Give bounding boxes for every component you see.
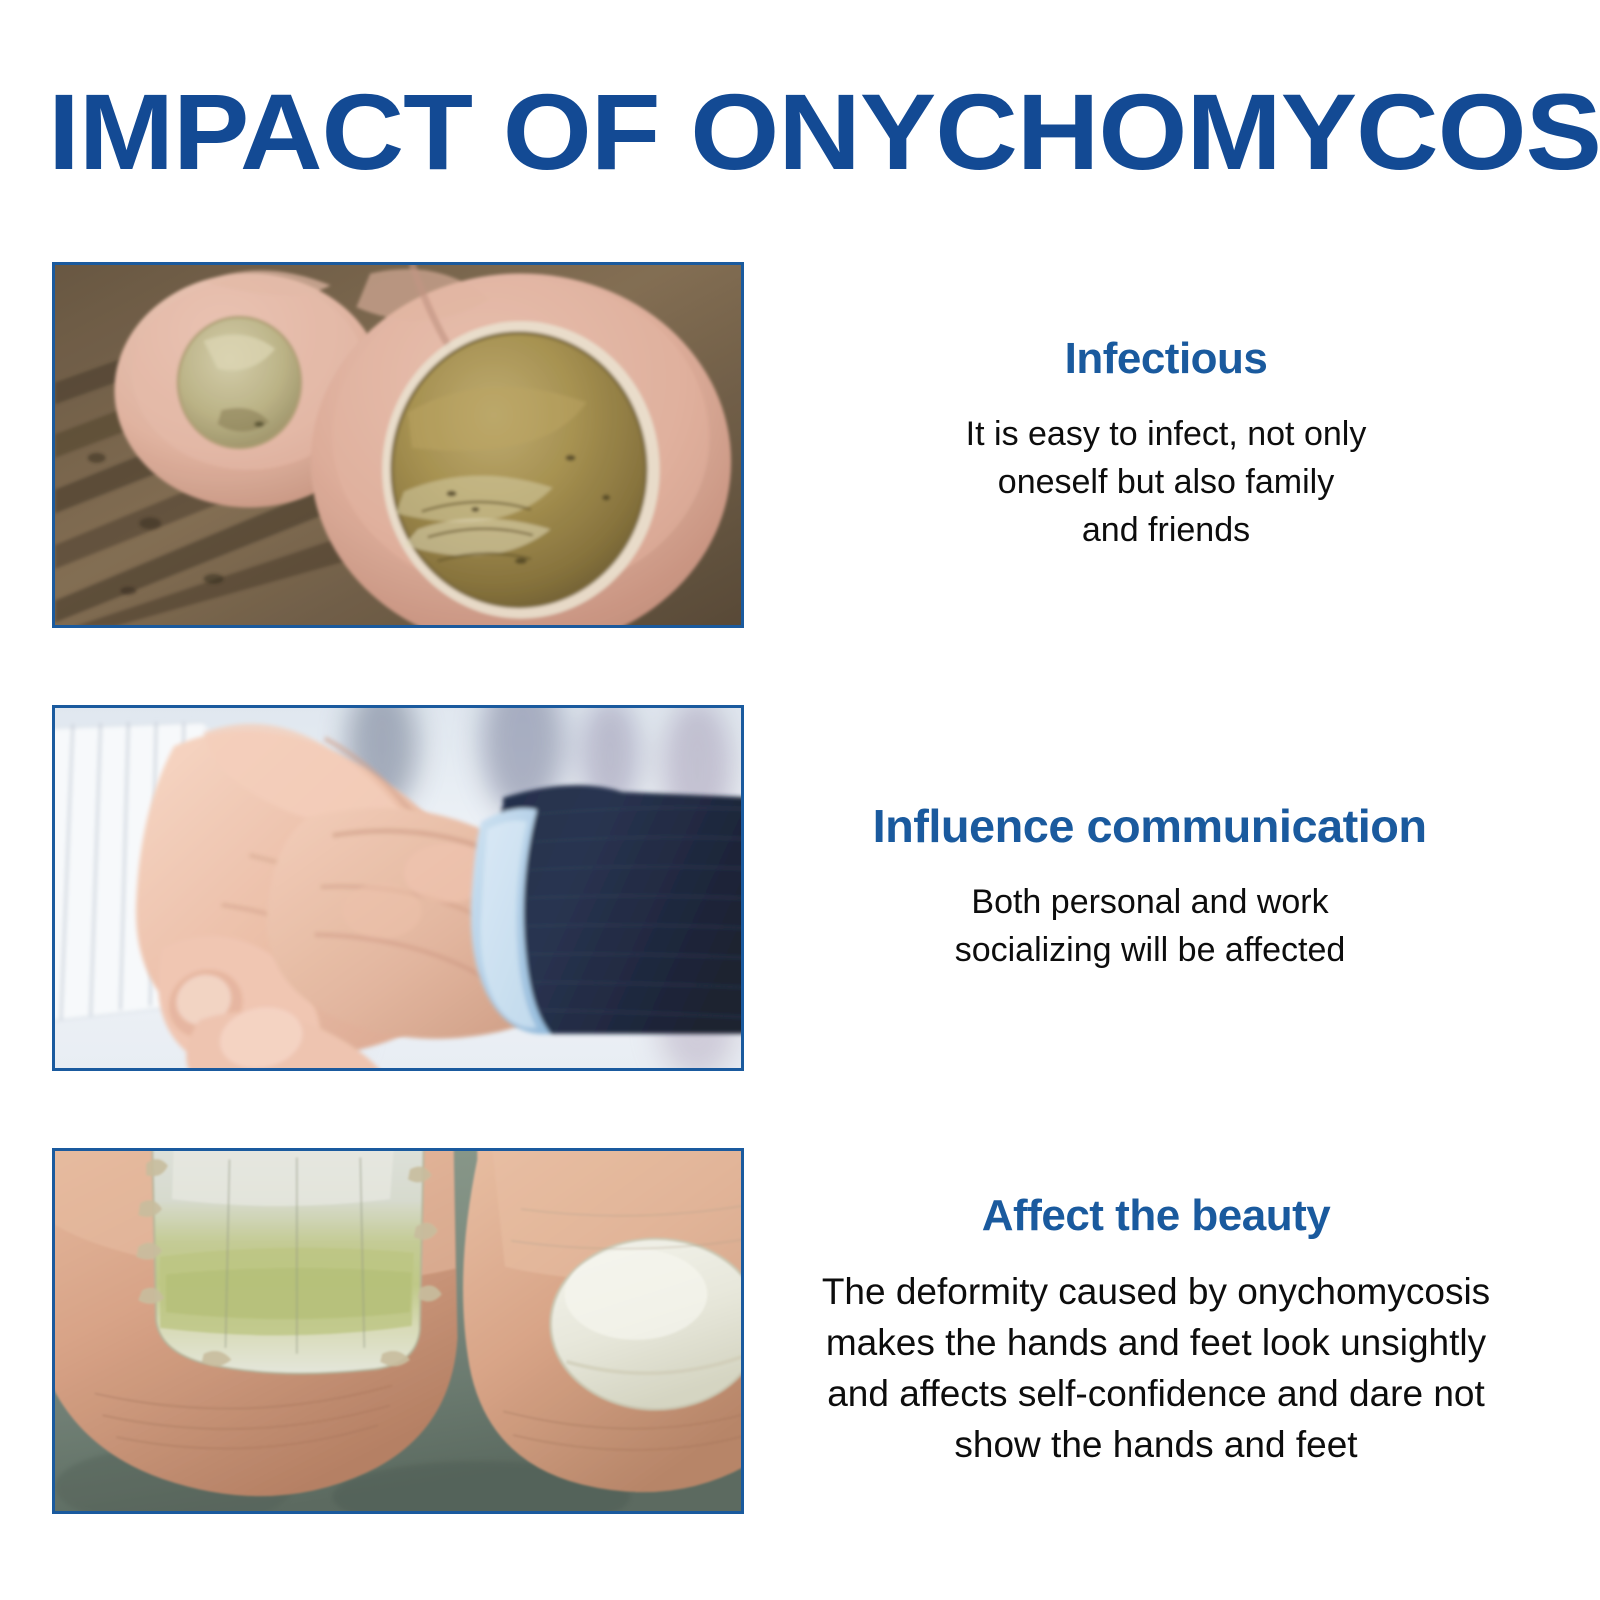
body-line: It is easy to infect, not only — [966, 410, 1367, 458]
body-line: and friends — [966, 506, 1367, 554]
section-text-infectious: Infectious It is easy to infect, not onl… — [846, 262, 1486, 628]
section-heading-affect-the-beauty: Affect the beauty — [982, 1192, 1330, 1240]
body-line: Both personal and work — [955, 878, 1346, 926]
section-heading-infectious: Infectious — [1065, 335, 1268, 383]
section-body-infectious: It is easy to infect, not only oneself b… — [966, 410, 1367, 555]
body-line: show the hands and feet — [822, 1419, 1490, 1470]
section-affect-the-beauty: Affect the beauty The deformity caused b… — [0, 1148, 1600, 1514]
section-body-influence-communication: Both personal and work socializing will … — [955, 878, 1346, 975]
section-influence-communication: Influence communication Both personal an… — [0, 705, 1600, 1071]
page-title: IMPACT OF ONYCHOMYCOSIS — [48, 78, 1600, 186]
section-text-affect-the-beauty: Affect the beauty The deformity caused b… — [756, 1148, 1556, 1514]
body-line: socializing will be affected — [955, 926, 1346, 974]
body-line: makes the hands and feet look unsightly — [822, 1317, 1490, 1368]
body-line: oneself but also family — [966, 458, 1367, 506]
infected-toenails-photo — [52, 262, 744, 628]
section-text-influence-communication: Influence communication Both personal an… — [790, 705, 1510, 1071]
body-line: The deformity caused by onychomycosis — [822, 1266, 1490, 1317]
discolored-big-toenails-photo — [52, 1148, 744, 1514]
business-handshake-photo — [52, 705, 744, 1071]
body-line: and affects self-confidence and dare not — [822, 1368, 1490, 1419]
section-body-affect-the-beauty: The deformity caused by onychomycosis ma… — [822, 1266, 1490, 1470]
section-heading-influence-communication: Influence communication — [873, 801, 1427, 852]
section-infectious: Infectious It is easy to infect, not onl… — [0, 262, 1600, 628]
